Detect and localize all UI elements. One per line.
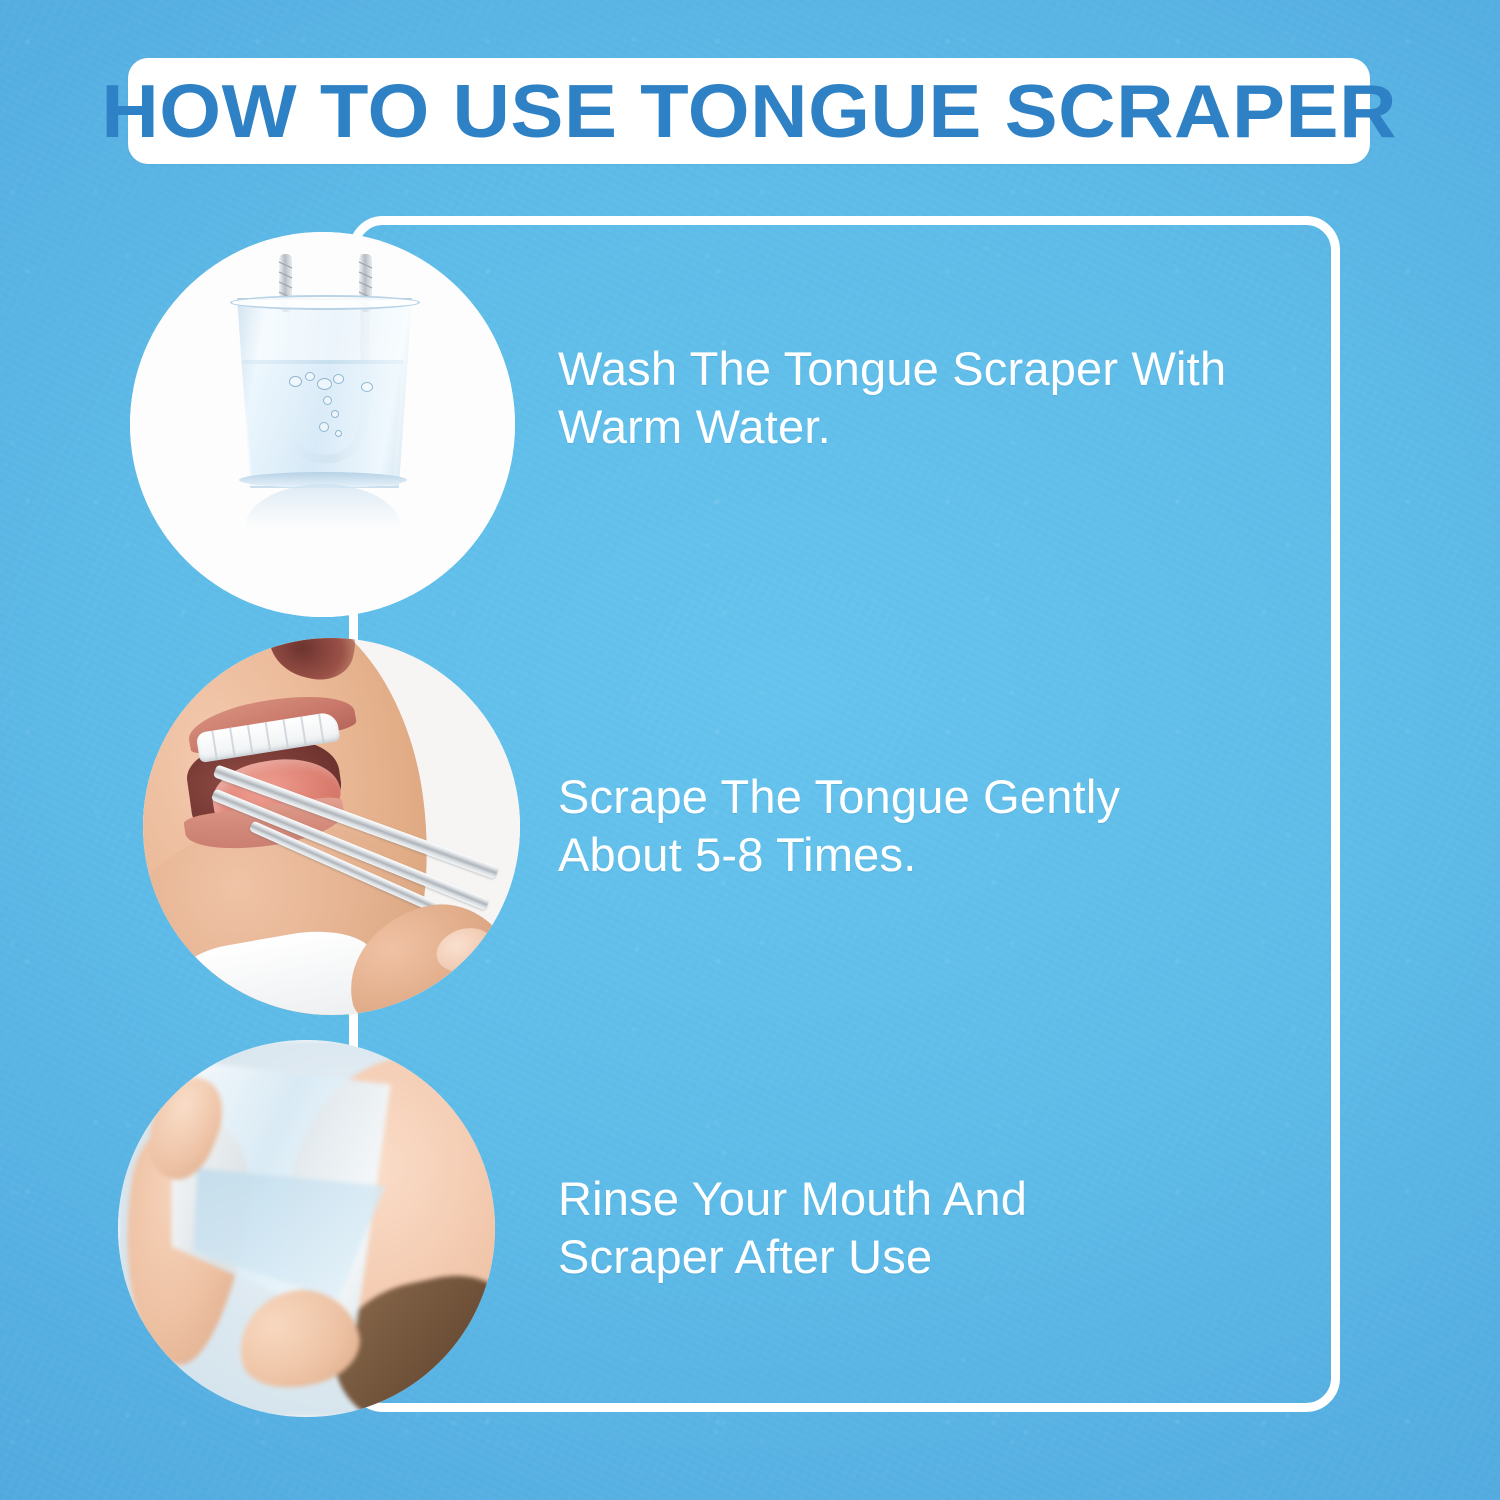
step-1-image xyxy=(130,232,515,617)
step-3: Rinse Your Mouth And Scraper After Use xyxy=(0,1038,1400,1416)
step-3-image xyxy=(118,1040,495,1417)
step-3-caption: Rinse Your Mouth And Scraper After Use xyxy=(558,1170,1027,1286)
glass-rim xyxy=(230,295,420,310)
water-bubbles-icon xyxy=(283,372,393,442)
title-banner: HOW TO USE TONGUE SCRAPER xyxy=(128,58,1370,164)
scraping-tongue-photo xyxy=(143,638,520,1015)
step-2-caption: Scrape The Tongue Gently About 5-8 Times… xyxy=(558,768,1120,884)
step-1-caption: Wash The Tongue Scraper With Warm Water. xyxy=(558,340,1226,456)
rinsing-mouth-photo xyxy=(118,1040,495,1417)
step-2-image xyxy=(143,638,520,1015)
infographic-poster: HOW TO USE TONGUE SCRAPER xyxy=(0,0,1500,1500)
page-title: HOW TO USE TONGUE SCRAPER xyxy=(101,74,1397,149)
glass-of-water-with-tongue-scraper-photo xyxy=(130,232,515,617)
step-2: Scrape The Tongue Gently About 5-8 Times… xyxy=(0,636,1400,1014)
step-1: Wash The Tongue Scraper With Warm Water. xyxy=(0,232,1400,614)
